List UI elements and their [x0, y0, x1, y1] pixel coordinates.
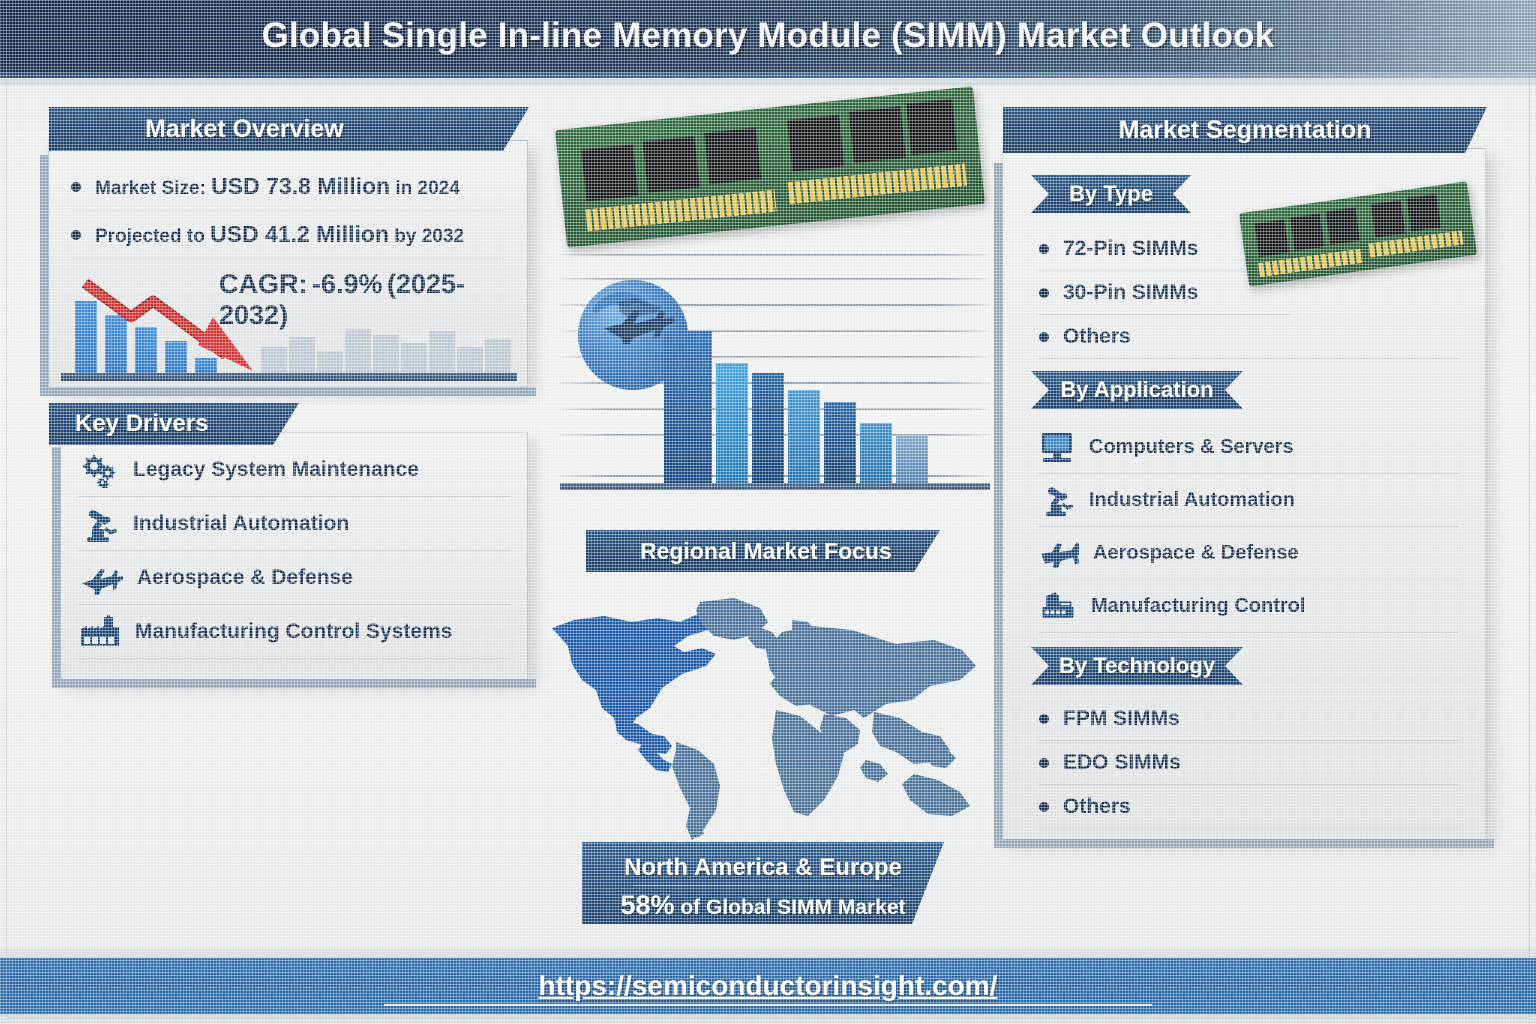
segmentation-item-2-0[interactable]: FPM SIMMs	[1039, 697, 1459, 741]
market-overview-row-0: Market Size: USD 73.8 Million in 2024	[71, 163, 503, 211]
robot-arm-icon	[79, 504, 119, 544]
website-url-link[interactable]: https://semiconductorinsight.com/	[384, 970, 1152, 1006]
market-overview-decline-mini-chart	[61, 271, 517, 381]
market-overview-row-1: Projected to USD 41.2 Million by 2032	[71, 211, 503, 259]
regional-market-focus-banner: Regional Market Focus	[586, 530, 940, 572]
map-regions-other	[672, 620, 976, 840]
robot-arm-icon	[1039, 482, 1075, 518]
key-driver-row-1[interactable]: Industrial Automation	[79, 497, 511, 551]
airplane-icon	[79, 561, 123, 595]
key-drivers-banner-label: Key Drivers	[75, 410, 208, 438]
segmentation-item-1-2[interactable]: Aerospace & Defense	[1039, 527, 1459, 580]
bullet-icon	[1039, 714, 1049, 724]
market-segmentation-banner: Market Segmentation	[1003, 107, 1487, 153]
segmentation-item-label: Aerospace & Defense	[1093, 542, 1299, 565]
segmentation-item-2-1[interactable]: EDO SIMMs	[1039, 741, 1459, 785]
segmentation-item-label: EDO SIMMs	[1063, 751, 1181, 775]
market-overview-banner-label: Market Overview	[145, 115, 344, 144]
segmentation-ribbon-by-application: By Application	[1031, 371, 1243, 409]
projection-text: Projected to USD 41.2 Million by 2032	[95, 221, 464, 248]
infographic-canvas: Global Single In-line Memory Module (SIM…	[0, 0, 1536, 1024]
segmentation-item-1-1[interactable]: Industrial Automation	[1039, 474, 1459, 527]
panel-bottom-edge	[1003, 839, 1494, 848]
segmentation-item-label: FPM SIMMs	[1063, 707, 1180, 731]
header-underline	[0, 78, 1536, 85]
central-declining-bar-chart	[560, 250, 990, 490]
jet-icon	[1039, 538, 1079, 568]
market-size-text: Market Size: USD 73.8 Million in 2024	[95, 173, 460, 200]
bullet-icon	[1039, 332, 1049, 342]
key-drivers-panel: Legacy System Maintenance Industrial Aut…	[60, 432, 528, 680]
panel-bottom-edge	[49, 387, 536, 396]
bullet-icon	[1039, 288, 1049, 298]
segmentation-item-label: Computers & Servers	[1089, 436, 1294, 459]
regional-callout: North America & Europe 58% of Global SIM…	[582, 842, 944, 924]
segmentation-item-label: 72-Pin SIMMs	[1063, 237, 1198, 261]
bullet-icon	[71, 230, 81, 240]
segmentation-ribbon-by-type: By Type	[1031, 175, 1191, 213]
market-segmentation-banner-label: Market Segmentation	[1119, 116, 1372, 145]
key-driver-row-3[interactable]: Manufacturing Control Systems	[79, 605, 511, 659]
panel-bottom-edge	[61, 679, 536, 688]
bullet-icon	[1039, 802, 1049, 812]
key-driver-label: Legacy System Maintenance	[133, 458, 419, 482]
simm-module-image-secondary	[1239, 181, 1477, 286]
segmentation-item-0-2[interactable]: Others	[1039, 315, 1459, 359]
key-driver-label: Aerospace & Defense	[137, 566, 353, 590]
segmentation-item-label: Others	[1063, 795, 1131, 819]
page-title: Global Single In-line Memory Module (SIM…	[0, 16, 1536, 56]
bullet-icon	[1039, 244, 1049, 254]
page-header: Global Single In-line Memory Module (SIM…	[0, 0, 1536, 78]
segmentation-item-2-2[interactable]: Others	[1039, 785, 1459, 829]
regional-callout-divider	[634, 885, 892, 886]
segmentation-item-label: Industrial Automation	[1089, 489, 1295, 512]
market-overview-panel: Market Size: USD 73.8 Million in 2024 Pr…	[48, 140, 528, 388]
panel-left-edge	[994, 163, 1003, 848]
key-driver-row-0[interactable]: Legacy System Maintenance	[79, 443, 511, 497]
ribbon-label: By Application	[1060, 377, 1213, 403]
panel-left-edge	[40, 155, 49, 396]
segmentation-item-1-0[interactable]: Computers & Servers	[1039, 421, 1459, 474]
regional-callout-line2: 58% of Global SIMM Market	[592, 890, 934, 921]
factory-icon	[79, 615, 121, 649]
world-map	[524, 592, 990, 842]
market-segmentation-panel: Market Segmentation By Type 72-Pin SIMMs…	[1002, 148, 1486, 840]
ribbon-label: By Technology	[1059, 653, 1215, 679]
page-footer: https://semiconductorinsight.com/	[0, 948, 1536, 1024]
decline-arrow-icon	[61, 271, 517, 381]
regional-callout-rest: of Global SIMM Market	[675, 896, 906, 919]
factory-icon	[1039, 590, 1077, 622]
ribbon-label: By Type	[1069, 181, 1153, 207]
segmentation-item-label: Others	[1063, 325, 1131, 349]
gears-icon	[79, 452, 119, 488]
market-overview-banner: Market Overview	[49, 107, 529, 151]
panel-left-edge	[52, 447, 61, 688]
regional-callout-pct: 58%	[620, 890, 674, 920]
bullet-icon	[71, 182, 81, 192]
key-drivers-banner: Key Drivers	[49, 403, 299, 445]
regional-callout-line1: North America & Europe	[592, 854, 934, 882]
segmentation-item-label: Manufacturing Control	[1091, 595, 1305, 618]
key-driver-label: Manufacturing Control Systems	[135, 620, 452, 644]
simm-module-image-main	[555, 86, 985, 247]
regional-banner-label: Regional Market Focus	[640, 538, 892, 565]
segmentation-ribbon-by-technology: By Technology	[1031, 647, 1243, 685]
segmentation-item-1-3[interactable]: Manufacturing Control	[1039, 580, 1459, 633]
segmentation-item-label: 30-Pin SIMMs	[1063, 281, 1198, 305]
key-driver-label: Industrial Automation	[133, 512, 349, 536]
bullet-icon	[1039, 758, 1049, 768]
key-driver-row-2[interactable]: Aerospace & Defense	[79, 551, 511, 605]
monitor-icon	[1039, 431, 1075, 463]
